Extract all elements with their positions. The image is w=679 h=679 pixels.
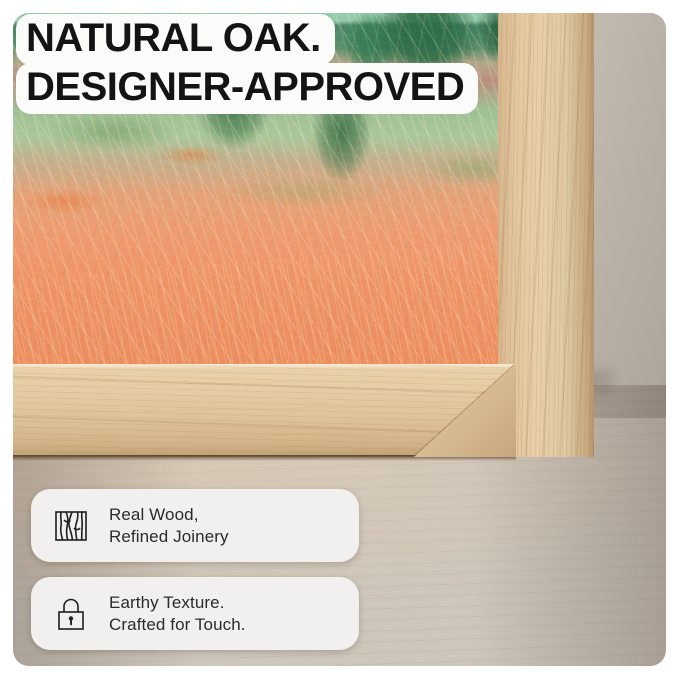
feature-line-2: Refined Joinery <box>109 526 229 548</box>
feature-line-2: Crafted for Touch. <box>109 614 246 636</box>
product-marketing-image: NATURAL OAK. DESIGNER-APPROVED Real Wood… <box>0 0 679 679</box>
headline-line-2: DESIGNER-APPROVED <box>16 63 478 114</box>
headline-line-1: NATURAL OAK. <box>16 14 335 65</box>
feature-card-text: Real Wood, Refined Joinery <box>109 504 229 548</box>
feature-card-real-wood[interactable]: Real Wood, Refined Joinery <box>31 489 359 562</box>
feature-line-1: Real Wood, <box>109 504 229 526</box>
headline-block: NATURAL OAK. DESIGNER-APPROVED <box>16 14 478 114</box>
frame-mitre-seam <box>413 364 515 457</box>
feature-line-1: Earthy Texture. <box>109 592 246 614</box>
feature-card-text: Earthy Texture. Crafted for Touch. <box>109 592 246 636</box>
wood-grain-icon <box>51 506 91 546</box>
padlock-icon <box>51 594 91 634</box>
feature-card-earthy-texture[interactable]: Earthy Texture. Crafted for Touch. <box>31 577 359 650</box>
feature-card-list: Real Wood, Refined Joinery Earthy Textur… <box>31 489 359 650</box>
